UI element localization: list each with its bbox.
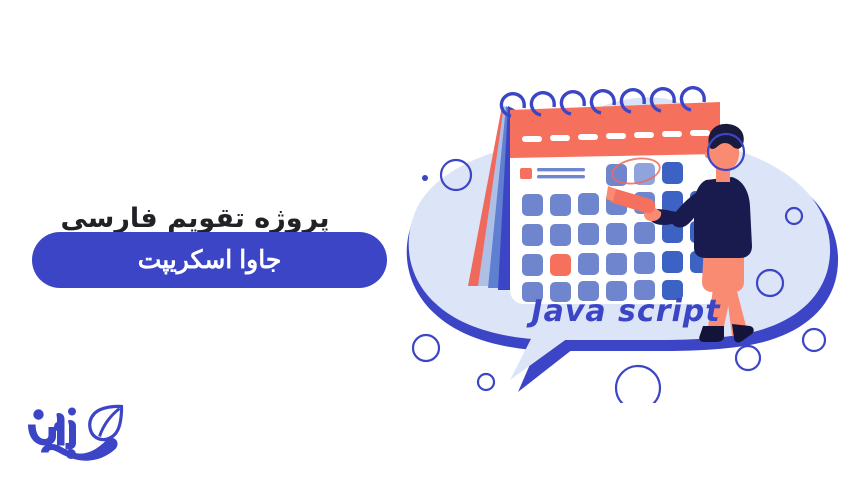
cta-button-label: جاوا اسکریپت bbox=[138, 248, 282, 273]
javascript-cta-button[interactable]: جاوا اسکریپت bbox=[32, 232, 387, 288]
sabzan-logo-icon bbox=[18, 396, 128, 462]
sabzan-logo[interactable] bbox=[18, 396, 128, 462]
banner-root: پروژه تقویم فارسی جاوا اسکریپت bbox=[0, 0, 852, 479]
calendar-person-illustration: Java script bbox=[398, 58, 852, 403]
illustration-caption: Java script bbox=[526, 294, 721, 329]
decor-dot bbox=[422, 175, 428, 181]
